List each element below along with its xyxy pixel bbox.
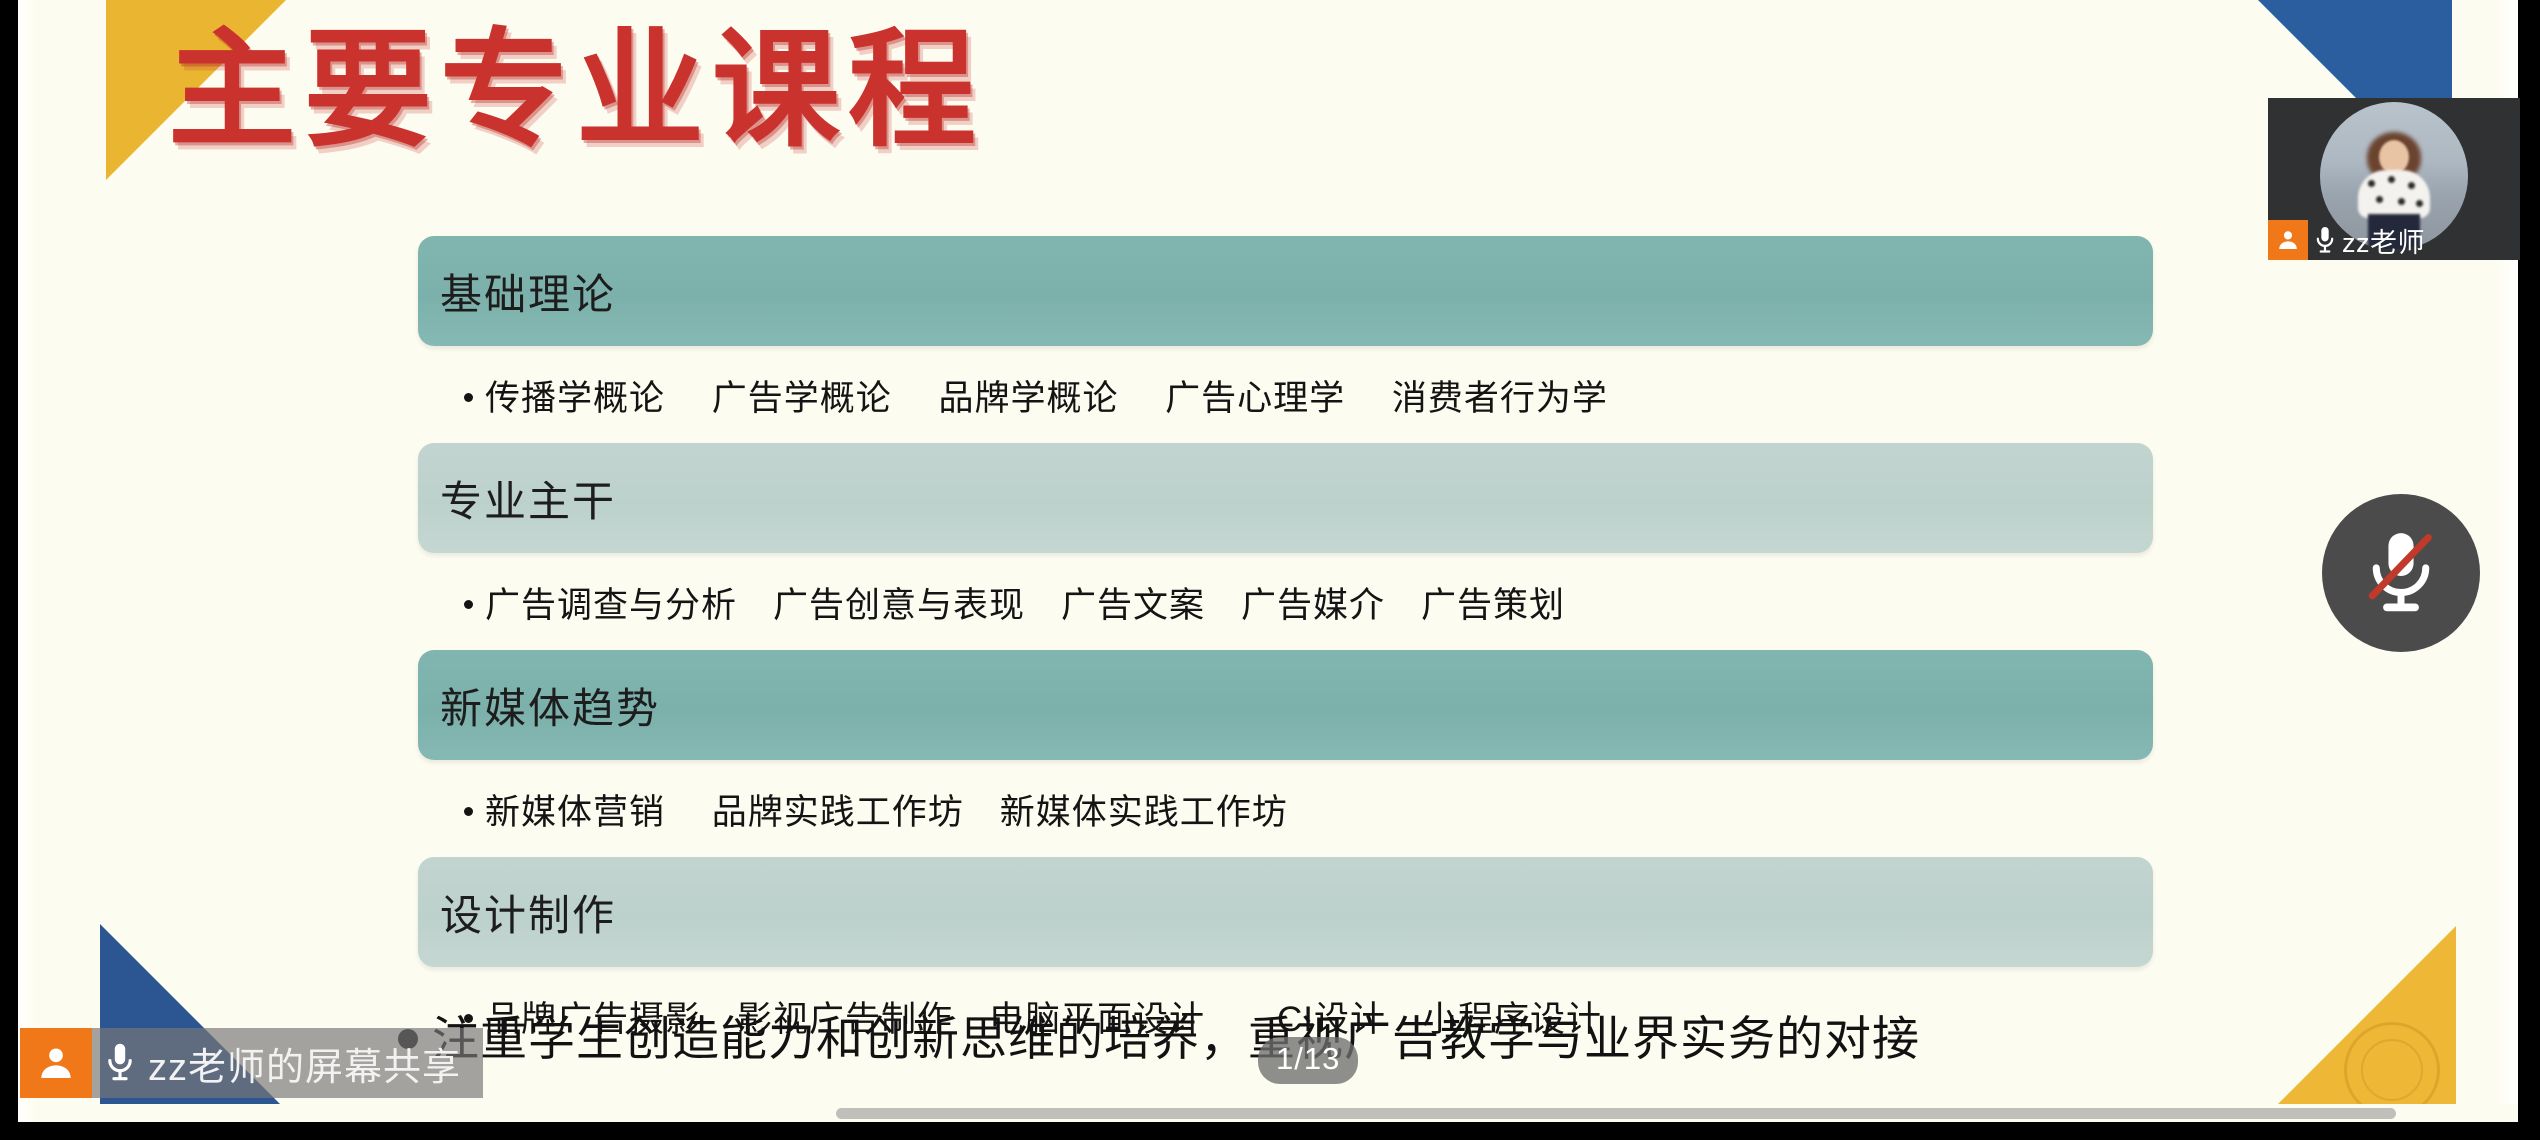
course-section: 专业主干 广告调查与分析 广告创意与表现 广告文案 广告媒介 广告策划 [418,443,2153,650]
course-section: 基础理论 传播学概论 广告学概论 品牌学概论 广告心理学 消费者行为学 [418,236,2153,443]
course-section: 新媒体趋势 新媒体营销 品牌实践工作坊 新媒体实践工作坊 [418,650,2153,857]
slide-summary-line: 注重学生创造能力和创新思维的培养，重视广告教学与业界实务的对接 [398,1000,1920,1069]
screen-share-label-text: zz老师的屏幕共享 [148,1036,483,1091]
course-section-heading: 基础理论 [440,261,616,322]
course-section-items: 新媒体营销 品牌实践工作坊 新媒体实践工作坊 [485,793,1288,832]
shared-slide-canvas[interactable]: 主要专业课程 基础理论 传播学概论 广告学概论 品牌学概论 广告心理学 消费者行… [18,0,2518,1122]
bullet-dot-icon [464,600,473,609]
bullet-dot-icon [464,393,473,402]
bullet-dot-icon [464,807,473,816]
slide-summary-text: 注重学生创造能力和创新思维的培养，重视广告教学与业界实务的对接 [432,1012,1920,1065]
microphone-icon [92,1041,148,1085]
slide-left-edge [18,0,40,1122]
course-section-heading: 新媒体趋势 [440,675,660,736]
participant-video-footer: zz老师 [2268,220,2425,260]
avatar-face [2379,140,2409,174]
course-section-items-row: 新媒体营销 品牌实践工作坊 新媒体实践工作坊 [418,760,2153,857]
course-section-items-row: 传播学概论 广告学概论 品牌学概论 广告心理学 消费者行为学 [418,346,2153,443]
slide-title: 主要专业课程 [168,22,984,160]
meeting-screen-share-view: 主要专业课程 基础理论 传播学概论 广告学概论 品牌学概论 广告心理学 消费者行… [0,0,2540,1140]
participant-video-tile[interactable]: zz老师 [2268,98,2520,260]
avatar-blouse [2358,170,2430,218]
horizontal-scrollbar-thumb[interactable] [836,1108,2396,1119]
page-indicator: 1/13 [1258,1037,1358,1084]
course-section-bar: 基础理论 [418,236,2153,346]
course-section-items: 广告调查与分析 广告创意与表现 广告文案 广告媒介 广告策划 [485,586,1565,625]
course-section-items: 传播学概论 广告学概论 品牌学概论 广告心理学 消费者行为学 [485,379,1608,418]
participant-name: zz老师 [2342,221,2425,260]
course-sections-list: 基础理论 传播学概论 广告学概论 品牌学概论 广告心理学 消费者行为学 专业主干… [418,236,2153,1064]
course-section-bar: 新媒体趋势 [418,650,2153,760]
screen-share-status-label: zz老师的屏幕共享 [20,1028,483,1098]
course-section-heading: 设计制作 [440,882,616,943]
horizontal-scrollbar-track[interactable] [36,1104,2518,1122]
course-section-bar: 设计制作 [418,857,2153,967]
course-section-items-row: 广告调查与分析 广告创意与表现 广告文案 广告媒介 广告策划 [418,553,2153,650]
microphone-muted-icon[interactable] [2322,494,2480,652]
microphone-icon [2308,225,2342,256]
course-section-heading: 专业主干 [440,468,616,529]
person-icon [20,1028,92,1098]
person-icon [2268,220,2308,260]
course-section-bar: 专业主干 [418,443,2153,553]
